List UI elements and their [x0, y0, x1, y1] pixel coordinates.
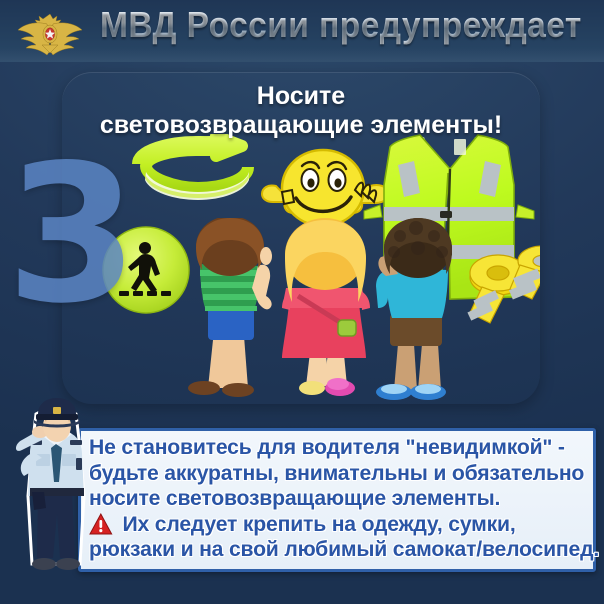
- child-girl-centre: [282, 218, 370, 396]
- message-line-4-row: Их следует крепить на одежду, сумки,: [89, 512, 580, 538]
- message-line-3: носите световозвращающие элементы.: [89, 486, 580, 512]
- reflective-tape-rolls: [460, 237, 540, 332]
- message-line-2: будьте аккуратны, внимательны и обязател…: [89, 461, 580, 487]
- header-title: МВД России предупреждает: [100, 4, 582, 46]
- poster-root: МВД России предупреждает МВД России пред…: [0, 0, 604, 604]
- child-boy-left: [188, 218, 272, 397]
- message-line-1: Не становитесь для водителя "невидимкой"…: [89, 435, 580, 461]
- child-boy-right: [376, 218, 452, 400]
- header-sheen: [0, 48, 604, 62]
- header-bar: МВД России предупреждает МВД России пред…: [0, 0, 604, 62]
- saluting-police-officer: [10, 396, 102, 576]
- step-numeral: 3: [6, 140, 138, 330]
- mvd-eagle-emblem: [14, 8, 86, 56]
- message-line-4: Их следует крепить на одежду, сумки,: [122, 512, 515, 538]
- children-group: [178, 218, 468, 404]
- reflective-slap-band: [130, 134, 260, 210]
- panel-title-line1: Носите: [62, 82, 540, 111]
- message-textbox: Не становитесь для водителя "невидимкой"…: [78, 428, 596, 572]
- message-line-5: рюкзаки и на свой любимый самокат/велоси…: [89, 537, 580, 563]
